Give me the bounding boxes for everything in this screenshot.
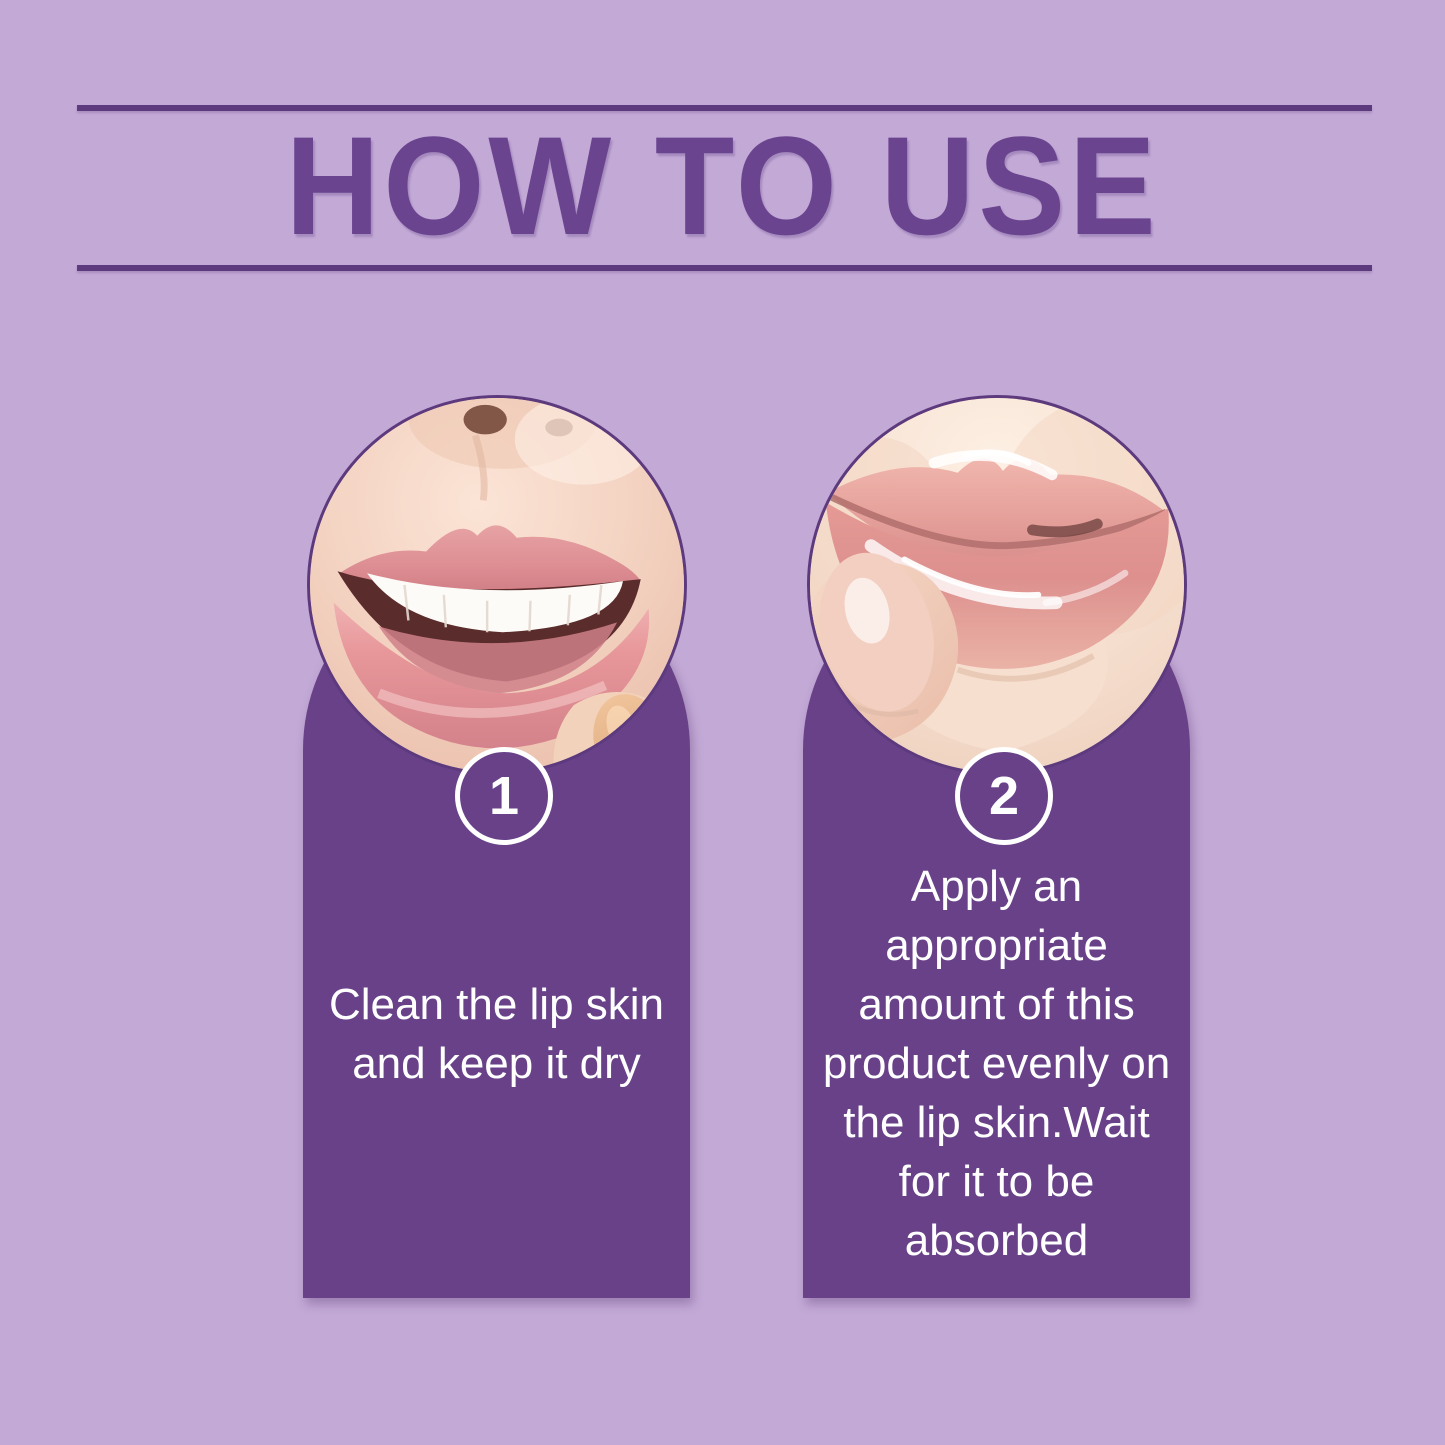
step-caption-2: Apply an appropriate amount of this prod… — [817, 857, 1176, 1270]
steps-container: 1 Clean the lip skin and keep it dry — [0, 0, 1445, 1445]
step-card-2: 2 Apply an appropriate amount of this pr… — [803, 395, 1190, 1298]
smiling-mouth-photo — [307, 395, 687, 775]
step-card-1: 1 Clean the lip skin and keep it dry — [303, 395, 690, 1298]
applying-lip-balm-photo — [807, 395, 1187, 775]
step-number-badge-1: 1 — [455, 747, 553, 845]
step-caption-1: Clean the lip skin and keep it dry — [317, 975, 676, 1093]
how-to-use-infographic: HOW TO USE — [0, 0, 1445, 1445]
step-number-badge-2: 2 — [955, 747, 1053, 845]
